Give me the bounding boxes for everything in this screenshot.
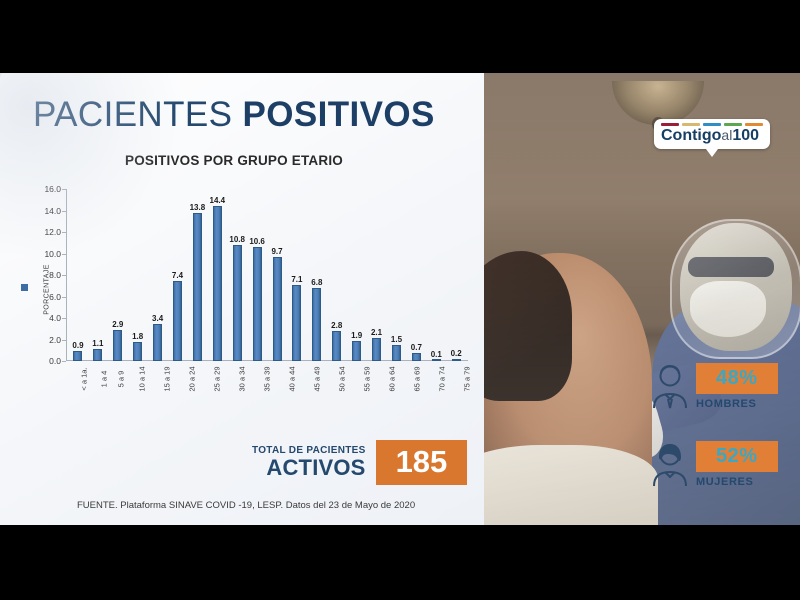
bar — [292, 285, 301, 361]
logo-brand-al: al — [721, 127, 732, 143]
bar — [332, 331, 341, 361]
contigo-al-100-logo: Contigoal100 — [654, 119, 770, 149]
bar-series: 0.91.12.91.83.47.413.814.410.810.69.77.1… — [66, 189, 468, 361]
bar-value-label: 0.2 — [451, 349, 462, 358]
page-title-light: PACIENTES — [33, 95, 232, 134]
x-tick-labels: < a 1a.1 a 45 a 910 a 1415 a 1920 a 2425… — [66, 365, 468, 411]
source-note: FUENTE. Plataforma SINAVE COVID -19, LES… — [77, 500, 415, 511]
men-percent-value: 48% — [716, 368, 758, 388]
bar-column: 1.5 — [387, 189, 407, 361]
bar-value-label: 6.8 — [311, 278, 322, 287]
bar-value-label: 2.8 — [331, 321, 342, 330]
y-tick-mark — [62, 232, 66, 233]
bar — [173, 281, 182, 361]
bar-column: 2.8 — [327, 189, 347, 361]
bar-value-label: 3.4 — [152, 314, 163, 323]
bar-column: 7.4 — [168, 189, 188, 361]
bar-value-label: 9.7 — [271, 247, 282, 256]
chart-panel: PACIENTES POSITIVOS POSITIVOS POR GRUPO … — [0, 73, 484, 525]
bar — [93, 349, 102, 361]
bar-column: 3.4 — [148, 189, 168, 361]
bar-column: 0.1 — [426, 189, 446, 361]
bar-column: 2.9 — [108, 189, 128, 361]
y-tick-mark — [62, 361, 66, 362]
bar-column: 13.8 — [187, 189, 207, 361]
women-label: MUJERES — [696, 476, 778, 488]
bar — [193, 213, 202, 361]
bar-value-label: 0.7 — [411, 343, 422, 352]
bar-column: 9.7 — [267, 189, 287, 361]
bar-value-label: 7.4 — [172, 271, 183, 280]
bar — [352, 341, 361, 361]
women-percent-value: 52% — [716, 446, 758, 466]
bar-value-label: 1.1 — [92, 339, 103, 348]
bar-column: 6.8 — [307, 189, 327, 361]
legend-swatch-porcentaje — [21, 284, 28, 291]
bar — [133, 342, 142, 361]
page-title: PACIENTES POSITIVOS — [33, 95, 435, 135]
bar — [273, 257, 282, 361]
bar-column: 0.7 — [406, 189, 426, 361]
logo-text: Contigoal100 — [661, 128, 763, 144]
logo-stripes — [661, 123, 763, 126]
logo-stripe — [661, 123, 679, 126]
logo-stripe — [745, 123, 763, 126]
bar — [452, 359, 461, 361]
bar-value-label: 1.5 — [391, 335, 402, 344]
bar — [73, 351, 82, 361]
bar-chart: PORCENTAJE 0.02.04.06.08.010.012.014.016… — [18, 181, 474, 396]
y-tick-label: 6.0 — [49, 292, 61, 302]
bar — [153, 324, 162, 361]
total-value-badge: 185 — [376, 440, 468, 485]
logo-brand-100: 100 — [732, 127, 759, 144]
bar-value-label: 10.8 — [229, 235, 245, 244]
bar — [372, 338, 381, 361]
bar-column: 10.8 — [227, 189, 247, 361]
logo-stripe — [682, 123, 700, 126]
bar — [113, 330, 122, 361]
bar-value-label: 0.1 — [431, 350, 442, 359]
y-tick-label: 16.0 — [44, 184, 61, 194]
total-active-patients: TOTAL DE PACIENTES ACTIVOS 185 — [252, 440, 467, 485]
slide-content: PACIENTES POSITIVOS POSITIVOS POR GRUPO … — [0, 73, 800, 525]
bar — [233, 245, 242, 361]
page-title-bold: POSITIVOS — [243, 95, 435, 134]
gender-stat-women-body: 52% MUJERES — [696, 441, 778, 488]
y-tick-label: 12.0 — [44, 227, 61, 237]
women-percent-badge: 52% — [696, 441, 778, 472]
total-main-label: ACTIVOS — [252, 457, 366, 479]
y-tick-label: 4.0 — [49, 313, 61, 323]
bar — [253, 247, 262, 361]
logo-stripe — [703, 123, 721, 126]
gender-stat-women: 52% MUJERES — [650, 441, 778, 488]
bar-value-label: 2.9 — [112, 320, 123, 329]
bar — [213, 206, 222, 361]
slide-stage: PACIENTES POSITIVOS POSITIVOS POR GRUPO … — [0, 0, 800, 600]
y-tick-mark — [62, 211, 66, 212]
y-tick-label: 8.0 — [49, 270, 61, 280]
y-tick-label: 10.0 — [44, 249, 61, 259]
bar-column: 2.1 — [367, 189, 387, 361]
bar — [412, 353, 421, 361]
y-tick-mark — [62, 189, 66, 190]
bar-value-label: 0.9 — [72, 341, 83, 350]
men-percent-badge: 48% — [696, 363, 778, 394]
bar-column: 0.9 — [68, 189, 88, 361]
y-tick-label: 2.0 — [49, 335, 61, 345]
bar-column: 1.8 — [128, 189, 148, 361]
bar — [392, 345, 401, 361]
bar — [312, 288, 321, 361]
men-label: HOMBRES — [696, 398, 778, 410]
bar-value-label: 13.8 — [190, 203, 206, 212]
x-tick-label: < a 1a. — [68, 365, 91, 411]
bar-column: 10.6 — [247, 189, 267, 361]
bar-column: 0.2 — [446, 189, 466, 361]
plot-area: 0.02.04.06.08.010.012.014.016.0 0.91.12.… — [66, 189, 468, 361]
bar-column: 1.9 — [347, 189, 367, 361]
bar-value-label: 14.4 — [210, 196, 226, 205]
bar-column: 7.1 — [287, 189, 307, 361]
bar-value-label: 1.8 — [132, 332, 143, 341]
logo-brand-main: Contigo — [661, 127, 721, 144]
bar-column: 1.1 — [88, 189, 108, 361]
bar-value-label: 7.1 — [291, 275, 302, 284]
woman-icon — [650, 441, 690, 487]
bar-value-label: 10.6 — [249, 237, 265, 246]
bar-value-label: 2.1 — [371, 328, 382, 337]
man-icon — [650, 363, 690, 409]
y-tick-label: 0.0 — [49, 356, 61, 366]
bar-value-label: 1.9 — [351, 331, 362, 340]
bar-column: 14.4 — [207, 189, 227, 361]
chart-title: POSITIVOS POR GRUPO ETARIO — [0, 153, 468, 168]
y-tick-label: 14.0 — [44, 206, 61, 216]
bar — [432, 359, 441, 361]
gender-stat-men: 48% HOMBRES — [650, 363, 778, 410]
photo-panel: Contigoal100 48% HOMBRES — [484, 73, 800, 525]
gender-stat-men-body: 48% HOMBRES — [696, 363, 778, 410]
logo-stripe — [724, 123, 742, 126]
total-labels: TOTAL DE PACIENTES ACTIVOS — [252, 446, 366, 479]
